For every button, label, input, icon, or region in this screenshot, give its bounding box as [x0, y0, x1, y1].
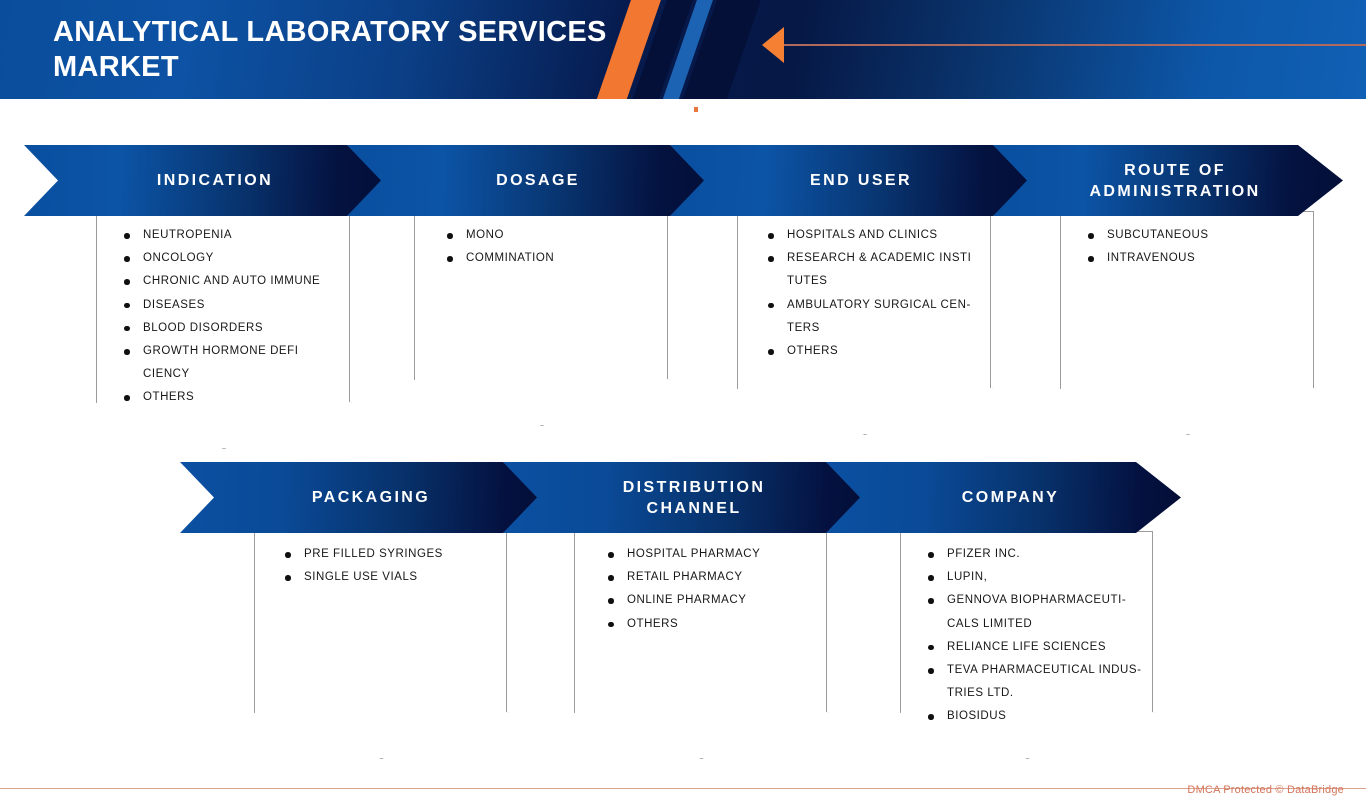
list-item: COMMINATION [447, 247, 677, 270]
list-item: SINGLE USE VIALS [285, 566, 513, 589]
list-item: GROWTH HORMONE DEFI CIENCY [124, 340, 364, 386]
list-item: INTRAVENOUS [1088, 247, 1318, 270]
page-header: ANALYTICAL LABORATORY SERVICES MARKET [0, 0, 1366, 99]
list-item: LUPIN, [928, 566, 1163, 589]
list-item: BLOOD DISORDERS [124, 317, 364, 340]
segment-list-dosage: MONO COMMINATION [447, 224, 677, 270]
list-item: RETAIL PHARMACY [608, 566, 836, 589]
list-item: ONLINE PHARMACY [608, 589, 836, 612]
list-item: RELIANCE LIFE SCIENCES [928, 636, 1163, 659]
list-item: PRE FILLED SYRINGES [285, 543, 513, 566]
segment-title-end-user: END USER [796, 170, 912, 191]
segment-list-indication: NEUTROPENIA ONCOLOGY CHRONIC AND AUTO IM… [124, 224, 364, 410]
list-item: TEVA PHARMACEUTICAL INDUS- TRIES LTD. [928, 659, 1163, 705]
segment-list-route: SUBCUTANEOUS INTRAVENOUS [1088, 224, 1318, 270]
footer-watermark: DMCA Protected © DataBridge [1187, 784, 1344, 796]
list-item: BIOSIDUS [928, 705, 1163, 728]
segment-list-distribution: HOSPITAL PHARMACY RETAIL PHARMACY ONLINE… [608, 543, 836, 636]
segment-header-end-user[interactable]: END USER [670, 145, 1038, 216]
list-item: CHRONIC AND AUTO IMMUNE [124, 270, 364, 293]
list-item: MONO [447, 224, 677, 247]
list-item: DISEASES [124, 294, 364, 317]
infographic-canvas: ANALYTICAL LABORATORY SERVICES MARKET IN… [0, 0, 1366, 808]
list-item: RESEARCH & ACADEMIC INSTI TUTES [768, 247, 1003, 293]
list-item: SUBCUTANEOUS [1088, 224, 1318, 247]
segment-list-end-user: HOSPITALS AND CLINICS RESEARCH & ACADEMI… [768, 224, 1003, 363]
segment-header-distribution[interactable]: DISTRIBUTION CHANNEL [503, 462, 871, 533]
segment-title-indication: INDICATION [143, 170, 273, 191]
orange-dot-marker [694, 107, 698, 112]
list-item: HOSPITALS AND CLINICS [768, 224, 1003, 247]
segment-list-company: PFIZER INC. LUPIN, GENNOVA BIOPHARMACEUT… [928, 543, 1163, 729]
list-item: HOSPITAL PHARMACY [608, 543, 836, 566]
page-title: ANALYTICAL LABORATORY SERVICES MARKET [53, 15, 613, 85]
list-item: AMBULATORY SURGICAL CEN- TERS [768, 294, 1003, 340]
segment-title-packaging: PACKAGING [298, 487, 430, 508]
segment-title-dosage: DOSAGE [482, 170, 580, 191]
segment-header-packaging[interactable]: PACKAGING [180, 462, 548, 533]
segment-title-distribution: DISTRIBUTION CHANNEL [595, 477, 780, 519]
list-item: OTHERS [608, 613, 836, 636]
list-item: PFIZER INC. [928, 543, 1163, 566]
segment-header-route[interactable]: ROUTE OF ADMINISTRATION [993, 145, 1343, 216]
footer-divider [0, 788, 1366, 789]
left-arrow-icon [762, 27, 784, 63]
list-item: NEUTROPENIA [124, 224, 364, 247]
list-item: OTHERS [768, 340, 1003, 363]
segment-header-dosage[interactable]: DOSAGE [347, 145, 715, 216]
segment-list-packaging: PRE FILLED SYRINGES SINGLE USE VIALS [285, 543, 513, 589]
segment-title-company: COMPANY [948, 487, 1059, 508]
list-item: OTHERS [124, 386, 364, 409]
list-item: ONCOLOGY [124, 247, 364, 270]
arrow-rule [784, 44, 1366, 46]
segment-title-route: ROUTE OF ADMINISTRATION [1068, 160, 1268, 202]
segment-header-indication[interactable]: INDICATION [24, 145, 392, 216]
list-item: GENNOVA BIOPHARMACEUTI- CALS LIMITED [928, 589, 1163, 635]
segment-header-company[interactable]: COMPANY [826, 462, 1181, 533]
